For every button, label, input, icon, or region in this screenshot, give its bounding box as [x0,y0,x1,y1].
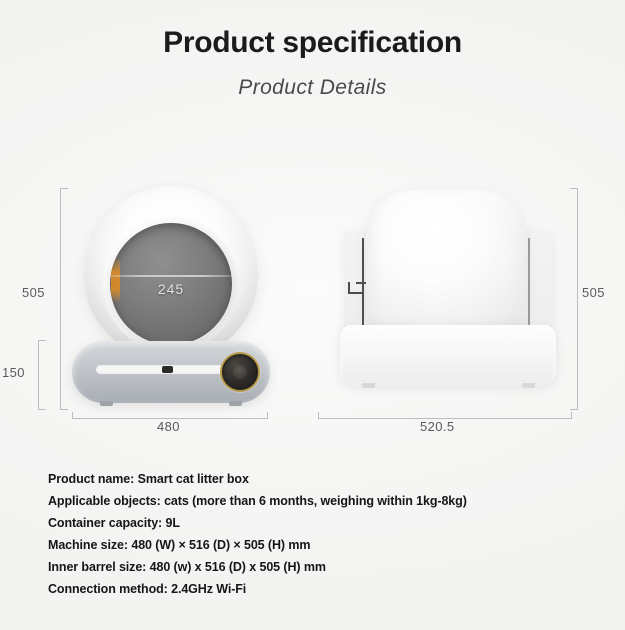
side-body-shell [366,190,526,340]
front-width-label: 480 [157,419,180,434]
front-view-illustration: 245 [72,186,270,410]
product-diagram: 245 505 150 480 [0,0,625,450]
base-slot [96,365,224,374]
side-foot-right [522,383,535,388]
dome-opening: 245 [110,223,232,345]
front-base-height-bracket [38,340,46,410]
side-notch-bar [356,282,366,284]
side-foot-left [362,383,375,388]
front-total-height-label: 505 [22,285,45,300]
side-view-illustration [340,190,568,410]
spec-item-connection-method: Connection method: 2.4GHz Wi-Fi [48,578,588,600]
specification-list: Product name: Smart cat litter box Appli… [48,468,588,600]
spec-item-inner-barrel-size: Inner barrel size: 480 (w) x 516 (D) x 5… [48,556,588,578]
front-base [72,341,270,403]
side-total-height-label: 505 [582,285,605,300]
side-depth-bracket [318,412,572,419]
front-foot-right [229,401,242,406]
sensor-icon [162,366,173,373]
spec-item-container-capacity: Container capacity: 9L [48,512,588,534]
spec-item-machine-size: Machine size: 480 (W) × 516 (D) × 505 (H… [48,534,588,556]
front-total-height-bracket [60,188,68,410]
spec-item-applicable-objects: Applicable objects: cats (more than 6 mo… [48,490,588,512]
side-depth-label: 520.5 [420,419,455,434]
opening-horizon-line [110,275,232,277]
control-dial[interactable] [220,352,260,392]
side-base [340,325,556,385]
front-width-bracket [72,412,268,419]
side-total-height-bracket [570,188,578,410]
spec-item-product-name: Product name: Smart cat litter box [48,468,588,490]
front-foot-left [100,401,113,406]
product-specification-page: Product specification Product Details 24… [0,0,625,630]
front-base-height-label: 150 [2,365,25,380]
side-edge-right [528,238,530,330]
opening-measurement-label: 245 [110,281,232,297]
